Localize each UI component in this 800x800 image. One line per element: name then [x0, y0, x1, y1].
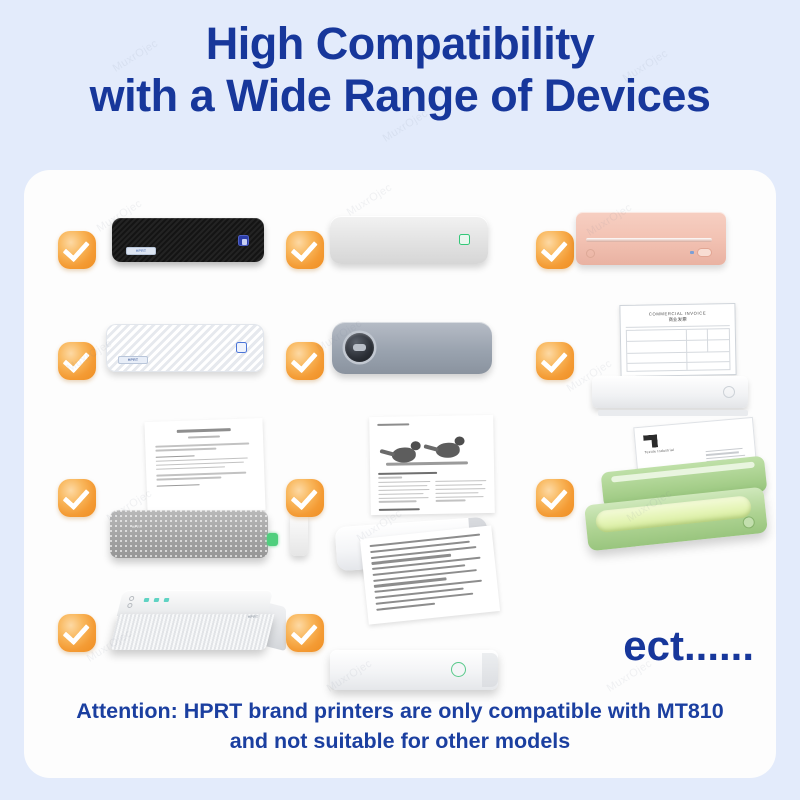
attention-line-1: Attention: HPRT brand printers are only … — [76, 699, 723, 723]
check-icon — [286, 231, 324, 269]
grey-printer-with-lens-dial — [324, 300, 524, 422]
check-icon — [286, 614, 324, 652]
white-a4-printer-with-invoice: COMMERCIAL INVOICE 商业发票 — [574, 300, 774, 422]
compatibility-item: COMMERCIAL INVOICE 商业发票 — [524, 300, 774, 422]
title-line-1: High Compatibility — [0, 18, 800, 70]
grey-fabric-printer-with-document: HPRT — [96, 418, 274, 578]
black-carbon-thermal-printer: HPRT — [96, 192, 274, 308]
chinese-printout-document — [360, 525, 500, 624]
check-icon — [58, 342, 96, 380]
invoice-subtitle: 商业发票 — [621, 316, 735, 324]
etc-label: ect...... — [623, 625, 754, 667]
printer-power-button — [697, 248, 712, 257]
compatibility-grid: HPRT — [24, 170, 776, 778]
compatibility-item: HPRT — [24, 418, 274, 578]
check-icon — [536, 342, 574, 380]
bird-printout-document — [369, 415, 495, 515]
green-a4-printer-pair: Textile Industrial — [574, 418, 774, 578]
compatibility-item — [274, 568, 524, 698]
invoice-document: COMMERCIAL INVOICE 商业发票 — [619, 303, 736, 377]
check-icon — [58, 231, 96, 269]
check-icon — [536, 479, 574, 517]
compatibility-item — [274, 300, 524, 422]
pink-thermal-printer — [574, 192, 774, 308]
check-icon — [536, 231, 574, 269]
light-grey-thermal-printer — [324, 192, 524, 308]
compatibility-card: HPRT — [24, 170, 776, 778]
compatibility-item — [524, 192, 774, 308]
check-icon — [286, 342, 324, 380]
page-title: High Compatibility with a Wide Range of … — [0, 18, 800, 122]
attention-line-2: and not suitable for other models — [230, 729, 570, 753]
printed-document — [144, 418, 265, 514]
check-icon — [286, 479, 324, 517]
compatibility-item: HPRT — [24, 300, 274, 422]
check-icon — [58, 479, 96, 517]
bird-illustration — [377, 426, 486, 468]
printer-power-button — [451, 662, 466, 677]
check-icon — [58, 614, 96, 652]
silver-ribbed-portable-printer: HPRT — [96, 568, 274, 698]
white-textured-thermal-printer: HPRT — [96, 300, 274, 422]
printer-indicator-icon — [238, 235, 249, 246]
attention-note: Attention: HPRT brand printers are only … — [24, 696, 776, 756]
compatibility-item: Textile Industrial — [524, 418, 774, 578]
compatibility-item — [274, 192, 524, 308]
title-line-2: with a Wide Range of Devices — [0, 70, 800, 122]
white-printer-with-chinese-printout — [324, 568, 524, 698]
compatibility-item: HPRT — [24, 192, 274, 308]
printer-dial-icon — [345, 333, 374, 362]
compatibility-row: HPRT — [24, 192, 776, 308]
compatibility-item: HPRT — [24, 568, 274, 698]
compatibility-row: HPRT COMMERCIAL INV — [24, 300, 776, 422]
printer-indicator-icon — [236, 342, 247, 353]
printer-indicator-icon — [459, 234, 470, 245]
